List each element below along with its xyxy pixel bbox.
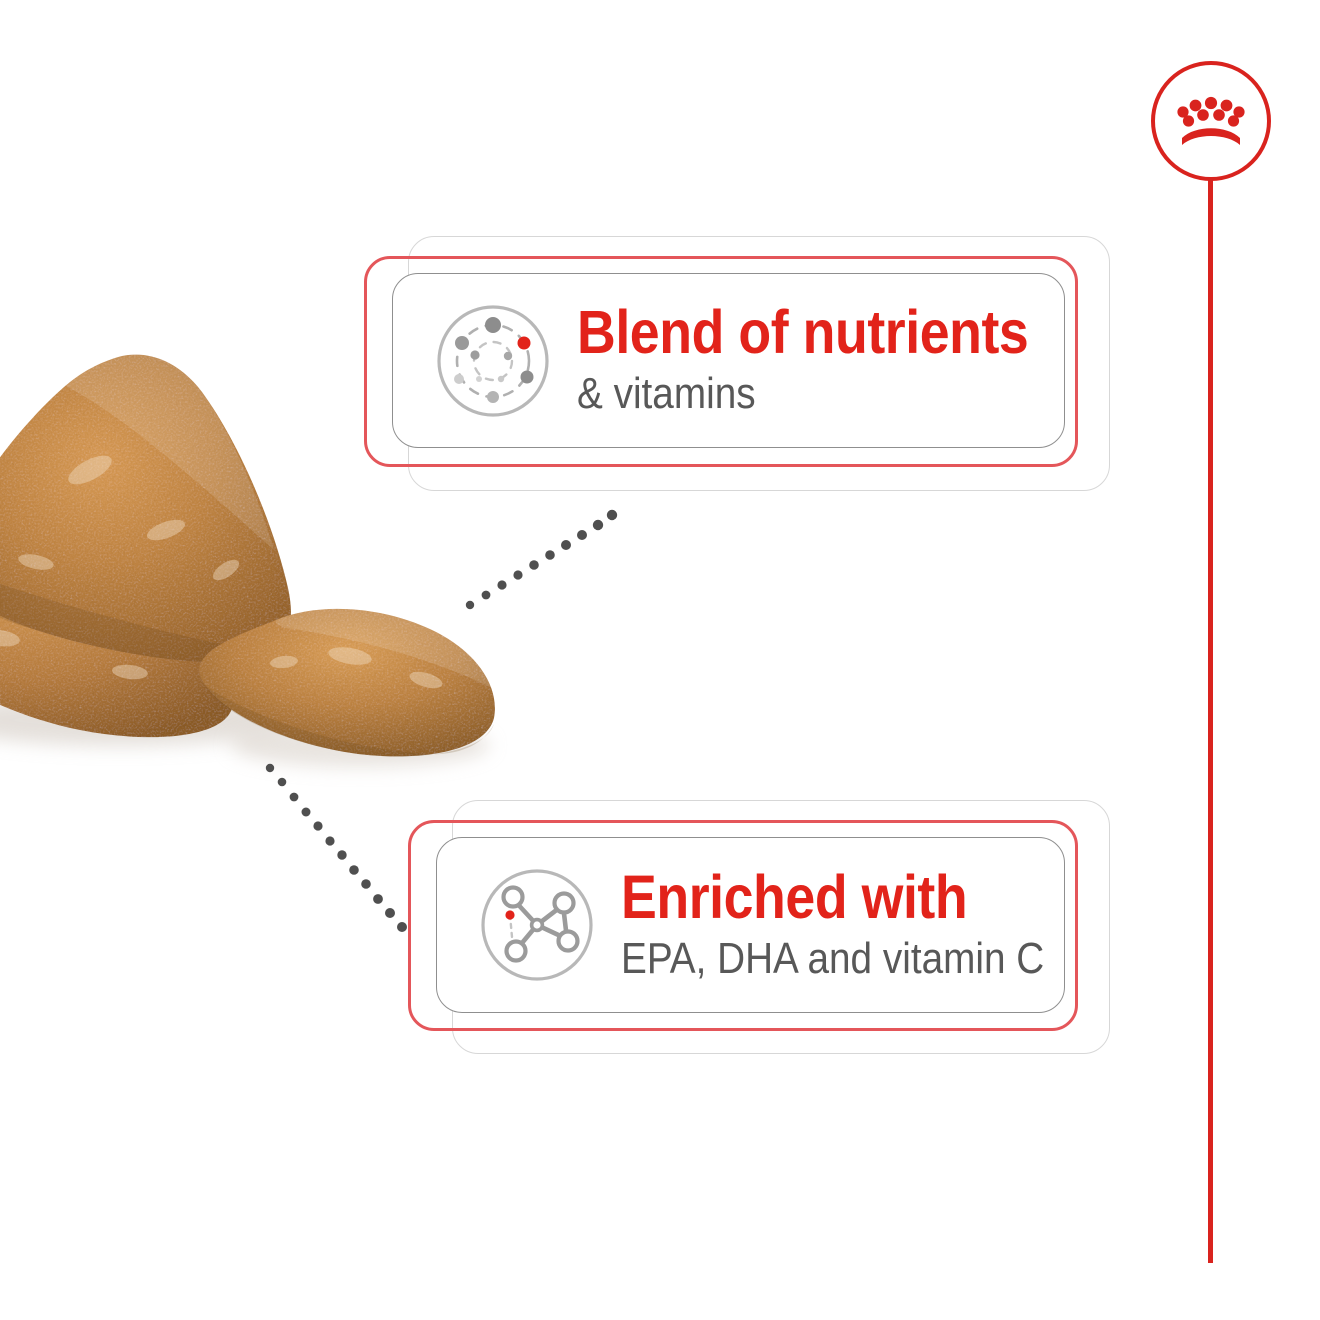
logo-stem-line — [1208, 178, 1213, 1263]
infographic-canvas: Blend of nutrients & vitamins — [0, 0, 1320, 1320]
card-enriched-with[interactable]: Enriched with EPA, DHA and vitamin C — [0, 0, 1320, 1100]
card-red-outline-2 — [408, 820, 1078, 1031]
royal-canin-crown-logo — [1177, 95, 1245, 147]
royal-canin-logo[interactable] — [1151, 61, 1271, 181]
card-red-outline — [364, 256, 1078, 467]
